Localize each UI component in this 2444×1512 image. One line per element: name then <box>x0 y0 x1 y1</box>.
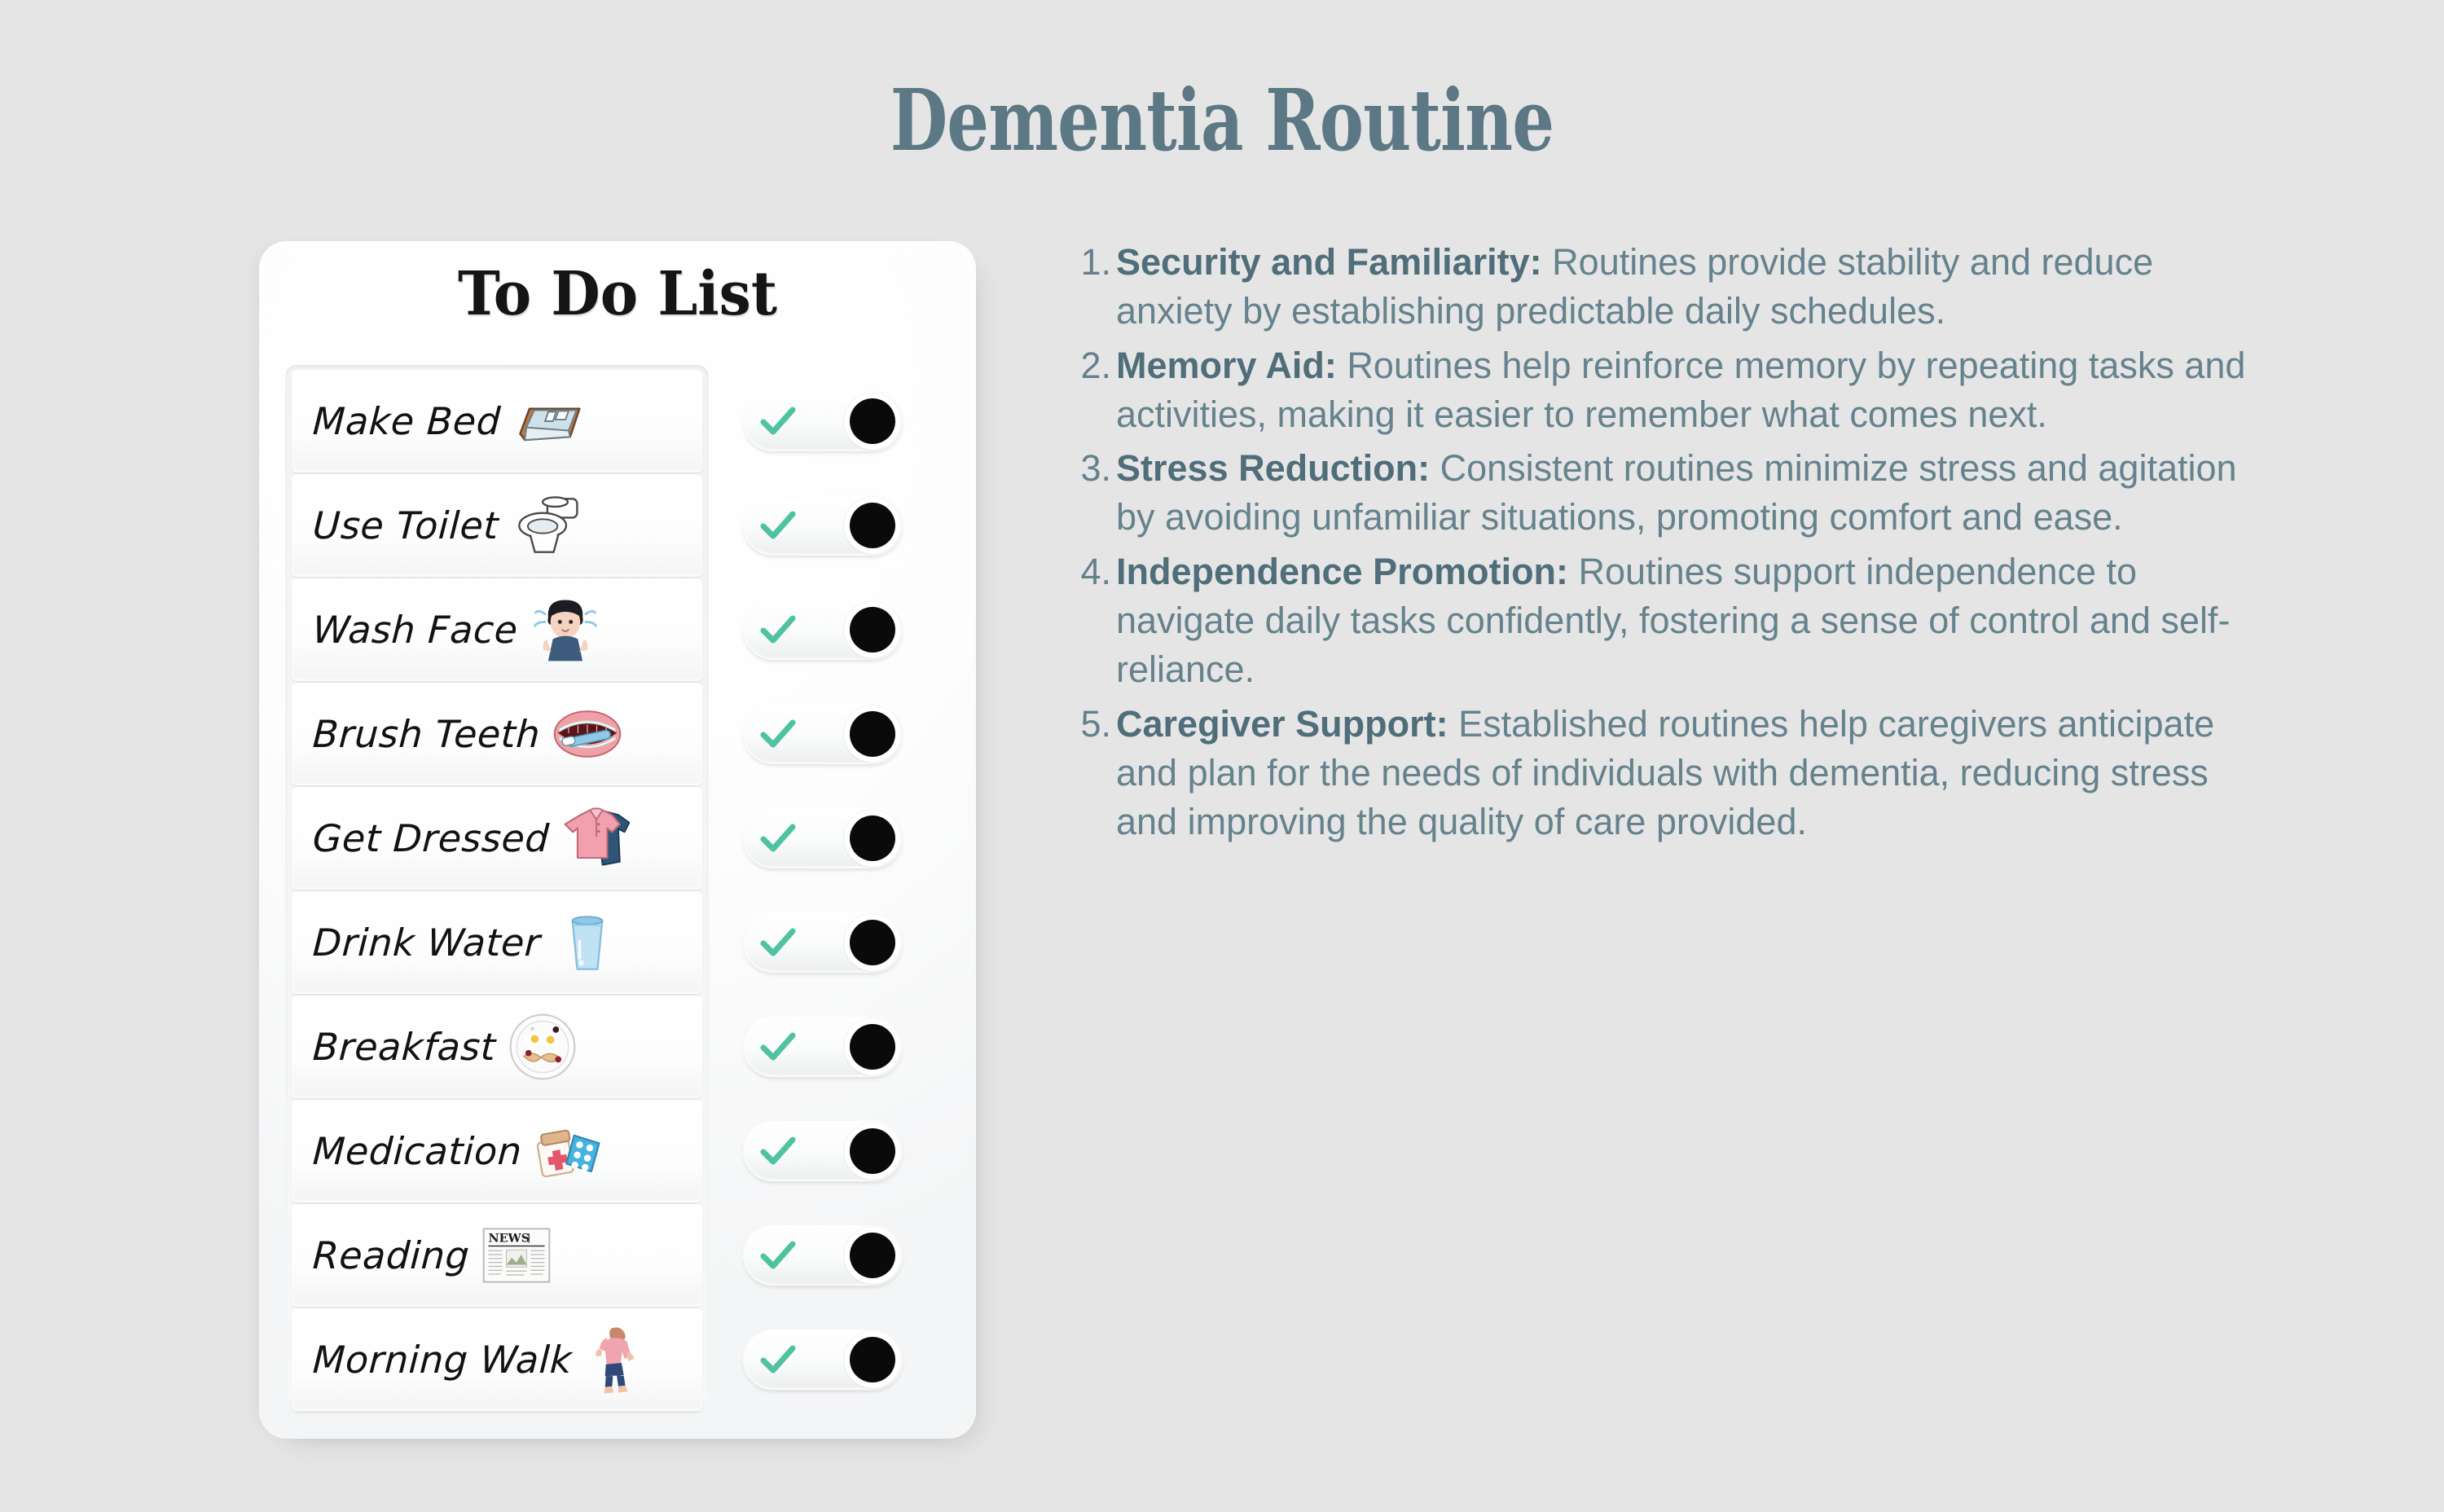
medicine-icon <box>530 1112 609 1190</box>
task-label: Wash Face <box>312 611 519 648</box>
toggle-cell <box>743 1204 947 1307</box>
task-label: Medication <box>312 1132 523 1170</box>
check-icon <box>759 613 797 646</box>
toggle-knob[interactable] <box>850 607 895 653</box>
check-icon <box>759 822 797 855</box>
task-label: Breakfast <box>312 1028 497 1066</box>
toilet-icon <box>507 486 585 565</box>
board-heading: To Do List <box>280 264 954 324</box>
task-toggle[interactable] <box>743 1121 903 1181</box>
check-icon <box>759 405 797 437</box>
task-label: Reading <box>312 1237 471 1274</box>
task-row[interactable]: Make Bed <box>292 370 702 472</box>
benefit-term: Stress Reduction: <box>1116 447 1430 489</box>
toggle-knob[interactable] <box>850 398 895 444</box>
page-title: Dementia Routine <box>269 78 2175 163</box>
benefit-term: Independence Promotion: <box>1116 551 1568 592</box>
benefit-body: Caregiver Support: Established routines … <box>1116 700 2279 847</box>
toggle-cell <box>743 683 947 785</box>
task-row[interactable]: Medication <box>292 1100 702 1202</box>
task-toggle[interactable] <box>743 1225 903 1286</box>
task-toggle[interactable] <box>743 1330 903 1390</box>
task-toggle[interactable] <box>743 808 903 868</box>
benefit-item: 2.Memory Aid: Routines help reinforce me… <box>1074 341 2279 440</box>
check-icon <box>759 1031 797 1063</box>
check-icon <box>759 926 797 959</box>
task-toggle[interactable] <box>743 1017 903 1077</box>
benefit-number: 1. <box>1074 238 1116 287</box>
task-row[interactable]: Brush Teeth <box>292 683 702 785</box>
toggle-cell <box>743 1308 947 1411</box>
wash-face-icon <box>526 591 604 669</box>
water-glass-icon <box>548 903 626 982</box>
check-icon <box>759 1239 797 1272</box>
benefit-body: Memory Aid: Routines help reinforce memo… <box>1116 341 2279 440</box>
task-toggle[interactable] <box>743 391 903 451</box>
task-toggle[interactable] <box>743 704 903 764</box>
toggle-knob[interactable] <box>850 503 895 548</box>
toggle-cell <box>743 474 947 577</box>
benefit-number: 4. <box>1074 547 1116 596</box>
task-label: Get Dressed <box>312 820 551 857</box>
svg-text:NEWS: NEWS <box>489 1232 530 1246</box>
toggle-cell <box>743 578 947 681</box>
toggle-knob[interactable] <box>850 1337 895 1382</box>
toggle-knob[interactable] <box>850 815 895 861</box>
task-toggle[interactable] <box>743 600 903 660</box>
check-icon <box>759 1135 797 1167</box>
benefit-item: 3.Stress Reduction: Consistent routines … <box>1074 444 2279 543</box>
task-slots-panel: Make Bed Use Toilet Wash Face Brush Teet… <box>285 365 709 1401</box>
todo-board: To Do List Make Bed Use Toilet Wash Face… <box>259 241 976 1439</box>
task-toggle[interactable] <box>743 495 903 556</box>
benefit-term: Security and Familiarity: <box>1116 241 1542 283</box>
benefit-term: Memory Aid: <box>1116 345 1337 386</box>
benefit-term: Caregiver Support: <box>1116 703 1448 745</box>
toggle-knob[interactable] <box>850 711 895 757</box>
task-row[interactable]: Reading NEWS <box>292 1204 702 1307</box>
toggle-column <box>743 365 947 1401</box>
bed-icon <box>509 382 587 460</box>
toggle-cell <box>743 787 947 890</box>
task-row[interactable]: Use Toilet <box>292 474 702 577</box>
benefit-number: 5. <box>1074 700 1116 749</box>
toggle-knob[interactable] <box>850 1233 895 1278</box>
benefit-number: 3. <box>1074 444 1116 493</box>
benefit-body: Stress Reduction: Consistent routines mi… <box>1116 444 2279 543</box>
task-toggle[interactable] <box>743 912 903 973</box>
toggle-cell <box>743 891 947 994</box>
toggle-cell <box>743 996 947 1098</box>
task-row[interactable]: Wash Face <box>292 578 702 681</box>
toggle-cell <box>743 1100 947 1202</box>
benefits-list: 1.Security and Familiarity: Routines pro… <box>1074 238 2279 852</box>
task-label: Morning Walk <box>312 1341 574 1378</box>
benefit-item: 1.Security and Familiarity: Routines pro… <box>1074 238 2279 336</box>
toggle-cell <box>743 370 947 472</box>
task-label: Make Bed <box>312 402 502 440</box>
task-label: Brush Teeth <box>312 715 541 753</box>
check-icon <box>759 1343 797 1376</box>
task-label: Drink Water <box>312 924 542 961</box>
newspaper-icon: NEWS <box>477 1216 556 1294</box>
benefit-body: Security and Familiarity: Routines provi… <box>1116 238 2279 336</box>
teeth-icon <box>548 695 626 773</box>
breakfast-icon <box>503 1008 582 1086</box>
toggle-knob[interactable] <box>850 1128 895 1174</box>
benefit-number: 2. <box>1074 341 1116 390</box>
task-row[interactable]: Morning Walk <box>292 1308 702 1411</box>
clothes-icon <box>557 799 635 877</box>
toggle-knob[interactable] <box>850 920 895 965</box>
benefit-item: 4.Independence Promotion: Routines suppo… <box>1074 547 2279 695</box>
task-row[interactable]: Drink Water <box>292 891 702 994</box>
task-label: Use Toilet <box>312 507 499 544</box>
benefit-item: 5.Caregiver Support: Established routine… <box>1074 700 2279 847</box>
task-row[interactable]: Breakfast <box>292 996 702 1098</box>
toggle-knob[interactable] <box>850 1024 895 1070</box>
walking-icon <box>580 1321 658 1399</box>
check-icon <box>759 718 797 750</box>
benefit-body: Independence Promotion: Routines support… <box>1116 547 2279 695</box>
task-row[interactable]: Get Dressed <box>292 787 702 890</box>
check-icon <box>759 509 797 542</box>
